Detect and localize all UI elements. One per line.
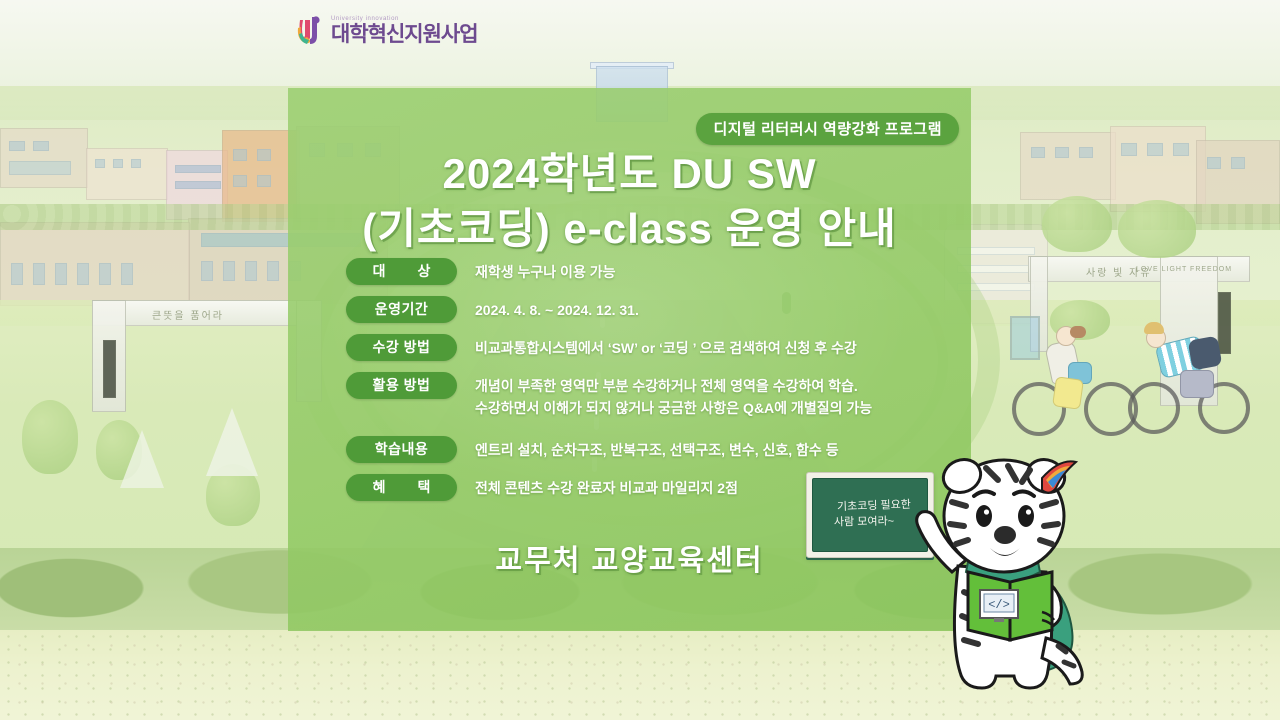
- row-value-target: 재학생 누구나 이용 가능: [457, 258, 946, 284]
- row-value-period: 2024. 4. 8. ~ 2024. 12. 31.: [457, 296, 946, 322]
- row-value-line-1: 전체 콘텐츠 수강 완료자 비교과 마일리지 2점: [475, 480, 738, 496]
- logo-mark-icon: [296, 14, 324, 46]
- logo-english-tagline: University innovation: [331, 16, 478, 22]
- row-label-benefit: 혜 택: [346, 474, 457, 501]
- left-gate-nameplate: [103, 340, 116, 398]
- row-label-enrollment-method: 수강 방법: [346, 334, 457, 361]
- conifer-tree: [206, 408, 258, 476]
- program-badge: 디지털 리터러시 역량강화 프로그램: [696, 113, 959, 145]
- table-row: 수강 방법 비교과통합시스템에서 ‘SW’ or ‘코딩 ’ 으로 검색하여 신…: [346, 334, 946, 361]
- row-label-period: 운영기간: [346, 296, 457, 323]
- eye: [976, 505, 992, 527]
- conifer-tree: [120, 430, 164, 488]
- row-value-enrollment-method: 비교과통합시스템에서 ‘SW’ or ‘코딩 ’ 으로 검색하여 신청 후 수강: [457, 334, 946, 360]
- row-value-line-1: 엔트리 설치, 순차구조, 반복구조, 선택구조, 변수, 신호, 함수 등: [475, 442, 839, 458]
- row-label-curriculum: 학습내용: [346, 436, 457, 463]
- right-gate-nameplate: [1218, 292, 1231, 354]
- row-value-usage-method: 개념이 부족한 영역만 부분 수강하거나 전체 영역을 수강하여 학습. 수강하…: [457, 372, 946, 419]
- table-row: 대 상 재학생 누구나 이용 가능: [346, 258, 946, 285]
- headline-line-1: 2024학년도 DU SW: [442, 150, 816, 197]
- row-label-target: 대 상: [346, 258, 457, 285]
- poster-canvas: 큰뜻을 품어라 사랑 빛 자유 LOVE LIGHT FREEDOM: [0, 0, 1280, 720]
- row-value-line-1: 재학생 누구나 이용 가능: [475, 264, 615, 280]
- right-gate-inscription-en: LOVE LIGHT FREEDOM: [1136, 266, 1232, 273]
- table-row: 활용 방법 개념이 부족한 영역만 부분 수강하거나 전체 영역을 수강하여 학…: [346, 372, 946, 419]
- left-gate-inscription: 큰뜻을 품어라: [152, 307, 224, 322]
- logo-korean-title: 대학혁신지원사업: [331, 24, 478, 45]
- background-building: [86, 148, 168, 200]
- headline-line-2: (기초코딩) e-class 운영 안내: [288, 201, 971, 256]
- tiger-mascot: </>: [890, 440, 1120, 702]
- tree: [1118, 200, 1196, 258]
- coding-book: </>: [968, 572, 1052, 640]
- eye: [1018, 505, 1034, 527]
- table-row: 학습내용 엔트리 설치, 순차구조, 반복구조, 선택구조, 변수, 신호, 함…: [346, 436, 946, 463]
- table-row: 운영기간 2024. 4. 8. ~ 2024. 12. 31.: [346, 296, 946, 323]
- row-value-line-1: 개념이 부족한 영역만 부분 수강하거나 전체 영역을 수강하여 학습.: [475, 378, 858, 394]
- tree: [22, 400, 78, 474]
- blackboard-line-2: 사람 모여라~: [834, 515, 894, 530]
- nose: [994, 526, 1016, 544]
- row-value-line-2: 수강하면서 이해가 되지 않거나 궁금한 사항은 Q&A에 개별질의 가능: [475, 398, 946, 420]
- row-label-usage-method: 활용 방법: [346, 372, 457, 399]
- row-value-curriculum: 엔트리 설치, 순차구조, 반복구조, 선택구조, 변수, 신호, 함수 등: [457, 436, 946, 462]
- background-building: [1020, 132, 1116, 200]
- page-title: 2024학년도 DU SW (기초코딩) e-class 운영 안내: [288, 146, 971, 257]
- notice-board: [1010, 316, 1040, 360]
- svg-text:</>: </>: [988, 598, 1010, 612]
- tree: [1042, 196, 1112, 252]
- university-innovation-logo: University innovation 대학혁신지원사업: [296, 14, 478, 46]
- row-value-line-1: 2024. 4. 8. ~ 2024. 12. 31.: [475, 302, 639, 318]
- row-value-line-1: 비교과통합시스템에서 ‘SW’ or ‘코딩 ’ 으로 검색하여 신청 후 수강: [475, 340, 857, 356]
- background-building: [0, 128, 88, 188]
- background-building: [0, 222, 190, 306]
